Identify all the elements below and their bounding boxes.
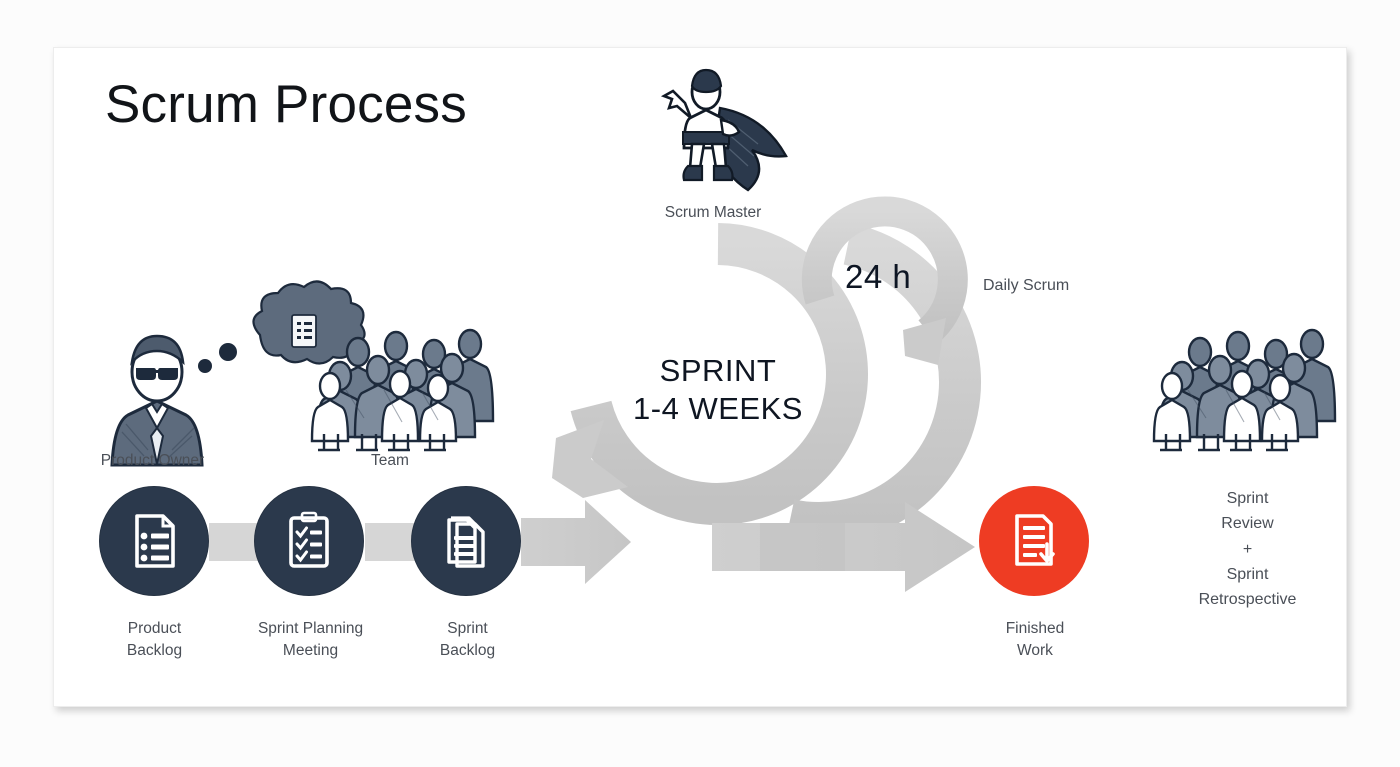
document-download-arrow-icon [1003, 510, 1065, 572]
stage-finished-work-label: Finished Work [975, 618, 1095, 663]
clipboard-checklist-icon [279, 510, 339, 572]
stage-sprint-planning-label: Sprint Planning Meeting [228, 618, 393, 663]
page-title: Scrum Process [105, 78, 467, 131]
sprint-review-retrospective-label: Sprint Review + Sprint Retrospective [1145, 486, 1350, 612]
daily-scrum-duration: 24 h [845, 258, 911, 296]
sprint-duration-text: SPRINT 1-4 WEEKS [598, 352, 838, 428]
stacked-documents-icon [435, 510, 497, 572]
scrum-master-label: Scrum Master [638, 202, 788, 224]
daily-scrum-label: Daily Scrum [983, 277, 1069, 295]
stage-finished-work[interactable] [979, 486, 1089, 596]
document-bullet-list-icon [123, 510, 185, 572]
stage-product-backlog[interactable] [99, 486, 209, 596]
product-owner-label: Product Owner [80, 450, 225, 472]
stage-sprint-backlog[interactable] [411, 486, 521, 596]
diagram-canvas: Scrum Process [0, 0, 1400, 767]
stage-sprint-backlog-label: Sprint Backlog [405, 618, 530, 663]
stage-product-backlog-label: Product Backlog [92, 618, 217, 663]
stage-sprint-planning[interactable] [254, 486, 364, 596]
team-label: Team [330, 450, 450, 472]
